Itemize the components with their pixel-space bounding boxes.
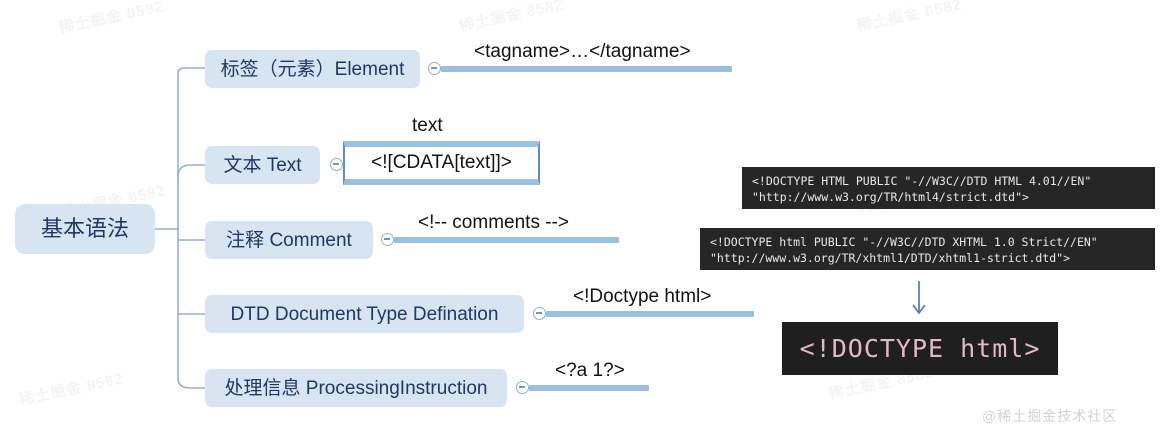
code-line-2: "http://www.w3.org/TR/html4/strict.dtd">: [752, 190, 1029, 204]
branch-node-text[interactable]: 文本 Text: [205, 146, 320, 184]
collapse-handle-dtd[interactable]: [533, 307, 546, 320]
branch-node-dtd[interactable]: DTD Document Type Defination: [205, 295, 524, 333]
branch-node-comment-label: 注释 Comment: [226, 231, 352, 250]
code-line-1: <!DOCTYPE html PUBLIC "-//W3C//DTD XHTML…: [710, 235, 1098, 249]
collapse-handle-element[interactable]: [428, 62, 441, 75]
code-block-xhtml10: <!DOCTYPE html PUBLIC "-//W3C//DTD XHTML…: [700, 228, 1155, 270]
annotation-bar-element: [441, 66, 732, 72]
code-block-html401: <!DOCTYPE HTML PUBLIC "-//W3C//DTD HTML …: [742, 167, 1155, 209]
hero-code-text: <!DOCTYPE html>: [800, 336, 1041, 361]
background-watermark: 稀土掘金 8582: [457, 0, 566, 36]
branch-node-element-label: 标签（元素）Element: [221, 60, 405, 79]
branch-node-processing-instruction-label: 处理信息 ProcessingInstruction: [225, 379, 488, 398]
cdata-box-text: <![CDATA[text]]>: [371, 152, 512, 174]
code-block-html5-doctype: <!DOCTYPE html>: [782, 322, 1058, 375]
background-watermark: 稀土掘金 8582: [17, 367, 126, 410]
annotation-element: <tagname>…</tagname>: [474, 42, 691, 61]
code-line-2: "http://www.w3.org/TR/xhtml1/DTD/xhtml1-…: [710, 251, 1070, 265]
annotation-text: text: [412, 116, 443, 135]
background-watermark: 稀土掘金 8582: [57, 0, 166, 38]
root-node[interactable]: 基本语法: [15, 204, 155, 254]
branch-node-dtd-label: DTD Document Type Defination: [231, 305, 499, 324]
background-watermark: 稀土掘金 8582: [855, 0, 964, 36]
credit-watermark: @稀土掘金技术社区: [982, 406, 1117, 426]
collapse-handle-comment[interactable]: [381, 233, 394, 246]
cdata-box: <![CDATA[text]]>: [343, 141, 540, 185]
annotation-bar-processing-instruction: [529, 385, 649, 391]
annotation-bar-comment: [394, 237, 619, 243]
branch-node-processing-instruction[interactable]: 处理信息 ProcessingInstruction: [205, 369, 507, 407]
collapse-handle-text[interactable]: [330, 158, 343, 171]
annotation-dtd: <!Doctype html>: [573, 287, 711, 306]
code-line-1: <!DOCTYPE HTML PUBLIC "-//W3C//DTD HTML …: [752, 174, 1091, 188]
root-node-label: 基本语法: [41, 218, 129, 240]
annotation-comment: <!-- comments -->: [418, 213, 569, 232]
branch-node-element[interactable]: 标签（元素）Element: [205, 50, 420, 88]
annotation-bar-dtd: [546, 311, 754, 317]
branch-node-text-label: 文本 Text: [223, 156, 301, 175]
collapse-handle-processing-instruction[interactable]: [516, 381, 529, 394]
branch-node-comment[interactable]: 注释 Comment: [205, 221, 373, 259]
annotation-processing-instruction: <?a 1?>: [555, 361, 625, 380]
mindmap-canvas: 稀土掘金 8582 稀土掘金 8582 稀土掘金 8582 稀土掘金 8582 …: [0, 0, 1162, 432]
